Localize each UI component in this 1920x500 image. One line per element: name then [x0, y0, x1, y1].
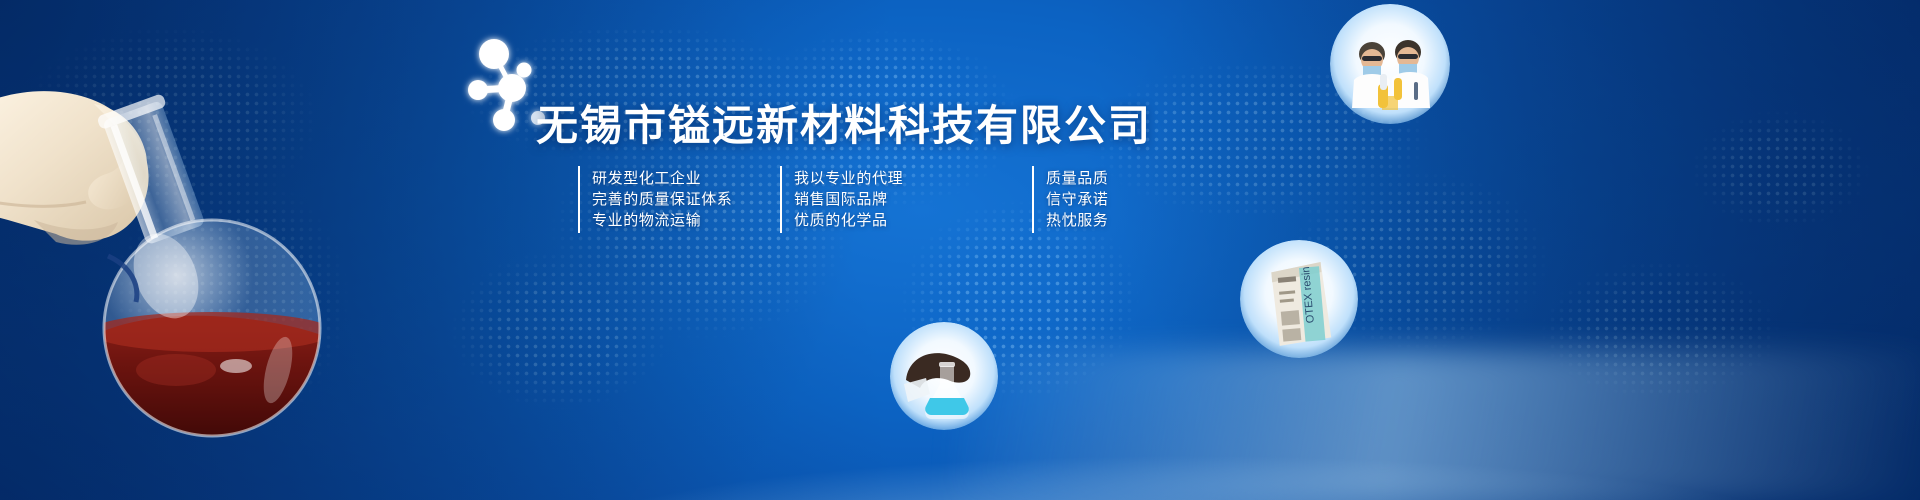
diagonal-light-beam	[950, 350, 1920, 500]
tagline-line: 热忱服务	[1046, 210, 1142, 231]
tagline-line: 专业的物流运输	[592, 210, 736, 231]
tagline-line: 销售国际品牌	[794, 189, 940, 210]
tagline-line: 信守承诺	[1046, 189, 1142, 210]
page-title: 无锡市镒远新材料科技有限公司	[536, 92, 1152, 153]
tagline-column-rnd: 研发型化工企业 完善的质量保证体系 专业的物流运输	[578, 166, 736, 233]
tagline-line: 优质的化学品	[794, 210, 940, 231]
hand-flask-photo-icon	[890, 322, 998, 430]
gloved-hand-holding-flask-image	[0, 70, 420, 500]
tagline-line: 质量品质	[1046, 168, 1142, 189]
tagline-line: 我以专业的代理	[794, 168, 940, 189]
tagline-line: 研发型化工企业	[592, 168, 736, 189]
tagline-column-promise: 质量品质 信守承诺 热忱服务	[1032, 166, 1142, 233]
tagline-line: 完善的质量保证体系	[592, 189, 736, 210]
resin-sack-photo-icon: OTEX resin	[1240, 240, 1358, 358]
tagline-column-agency: 我以专业的代理 销售国际品牌 优质的化学品	[780, 166, 940, 233]
tagline-group: 研发型化工企业 完善的质量保证体系 专业的物流运输 我以专业的代理 销售国际品牌…	[578, 166, 1142, 233]
company-banner: 无锡市镒远新材料科技有限公司 研发型化工企业 完善的质量保证体系 专业的物流运输…	[0, 0, 1920, 500]
scientists-photo-icon	[1330, 4, 1450, 124]
flask-bulb	[90, 220, 334, 450]
